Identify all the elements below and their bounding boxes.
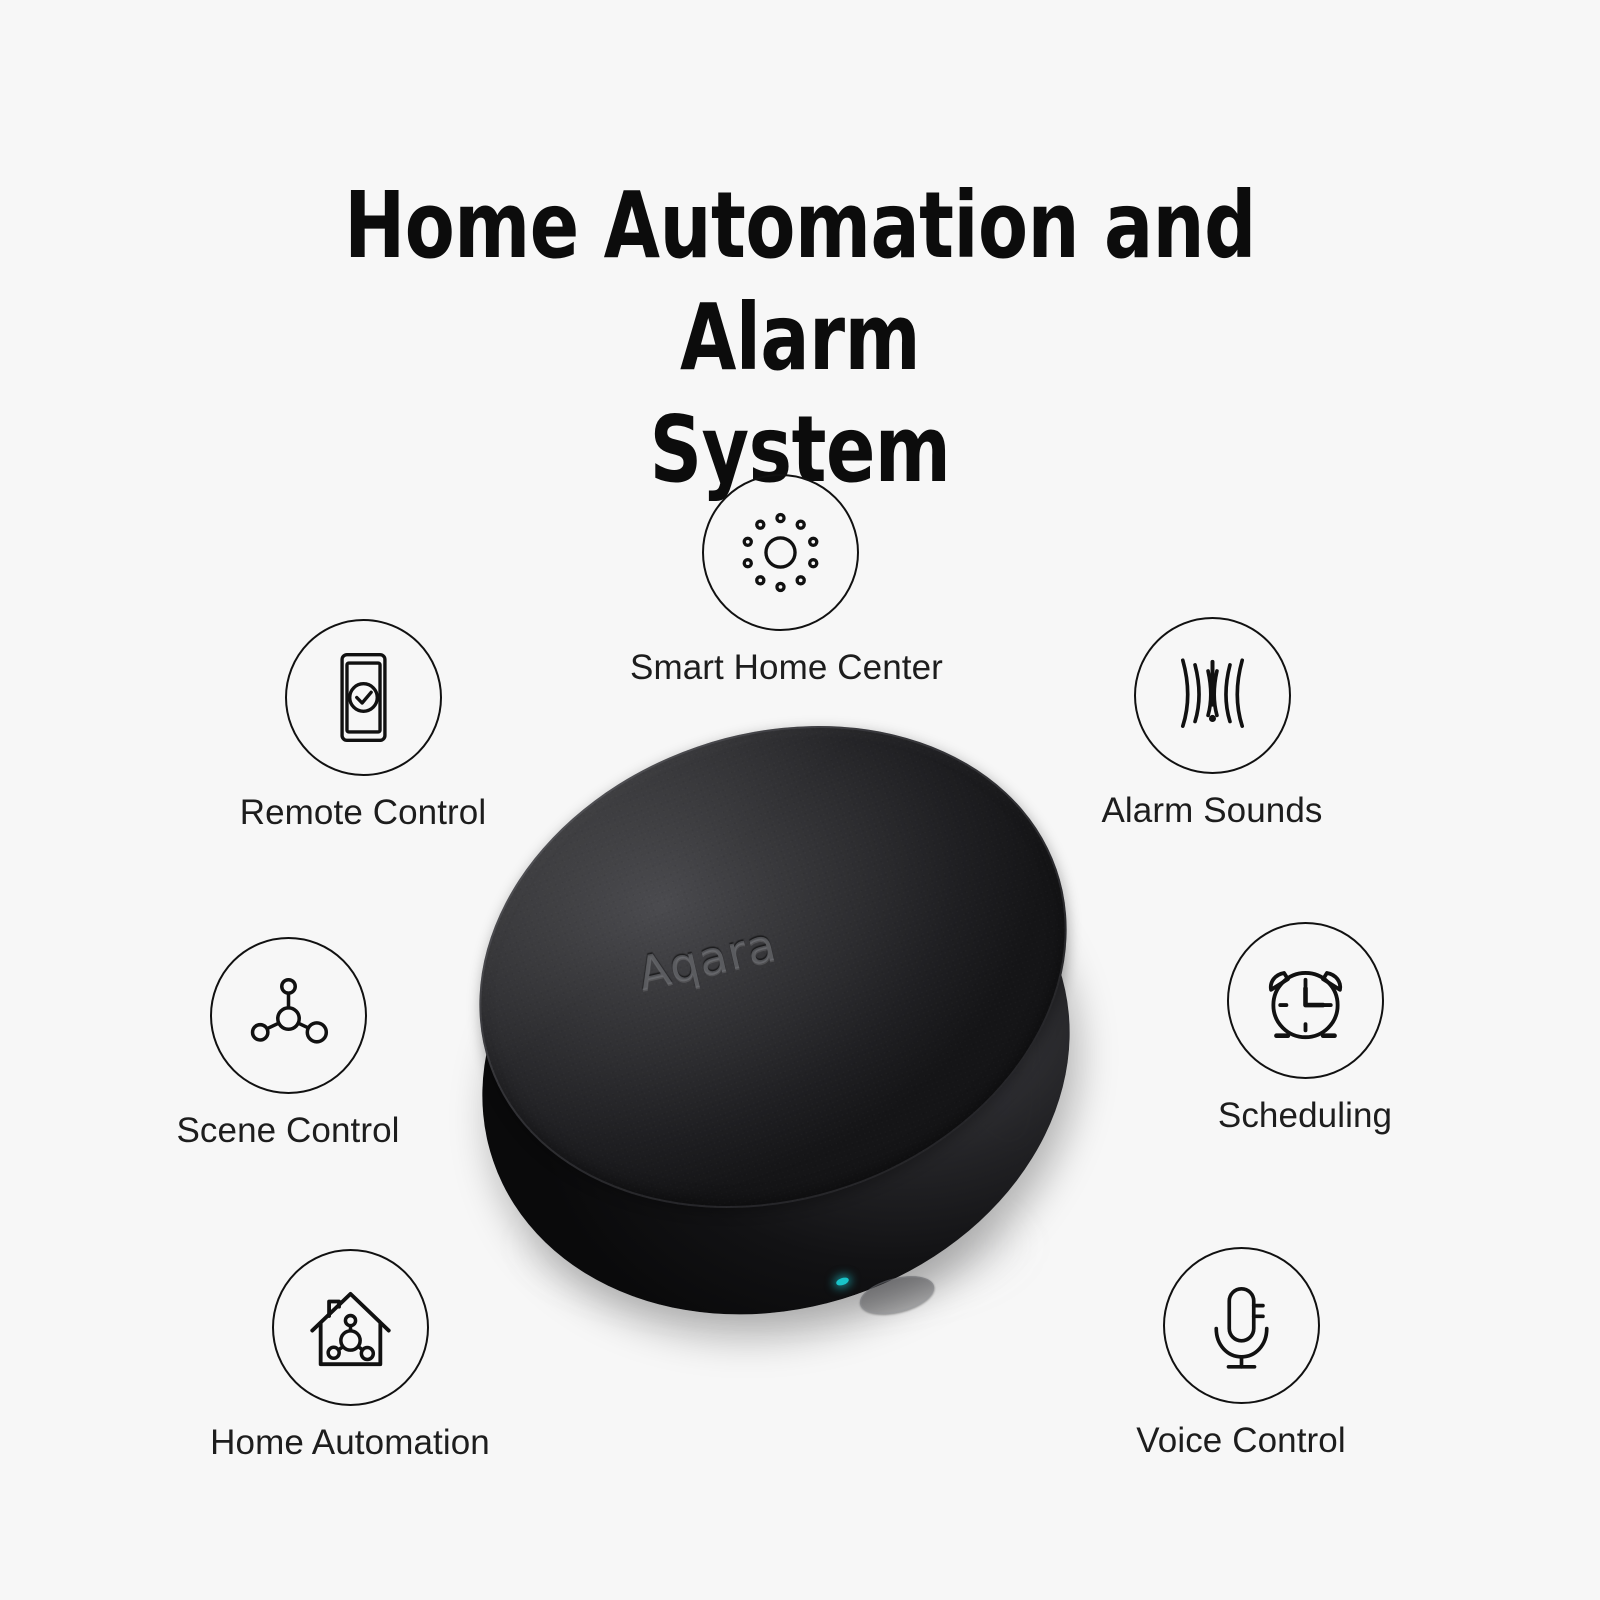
feature-alarm-sounds[interactable]: Alarm Sounds xyxy=(1062,617,1362,831)
feature-remote-control[interactable]: Remote Control xyxy=(213,619,513,833)
node-network-icon xyxy=(212,939,365,1092)
feature-voice-control[interactable]: Voice Control xyxy=(1091,1247,1391,1461)
infographic-canvas: Home Automation and Alarm System Aqara xyxy=(0,0,1600,1600)
product-top-face xyxy=(413,649,1132,1285)
feature-label: Voice Control xyxy=(1091,1421,1391,1461)
siren-alert-icon xyxy=(1136,619,1289,772)
hub-dots-icon xyxy=(704,476,857,629)
pairing-button[interactable] xyxy=(856,1269,938,1320)
feature-label: Scheduling xyxy=(1155,1096,1455,1136)
feature-label: Smart Home Center xyxy=(630,648,930,688)
feature-scene-control[interactable]: Scene Control xyxy=(138,937,438,1151)
product-top-highlight xyxy=(413,649,1132,1285)
product-drop-shadow xyxy=(515,1170,1035,1320)
feature-label: Home Automation xyxy=(200,1423,500,1463)
status-led xyxy=(835,1276,850,1287)
feature-icon-ring xyxy=(702,474,859,631)
feature-icon-ring xyxy=(272,1249,429,1406)
feature-icon-ring xyxy=(210,937,367,1094)
brand-logo-aqara: Aqara xyxy=(633,917,782,1001)
feature-icon-ring xyxy=(1163,1247,1320,1404)
alarm-clock-icon xyxy=(1229,924,1382,1077)
feature-icon-ring xyxy=(285,619,442,776)
microphone-icon xyxy=(1165,1249,1318,1402)
feature-icon-ring xyxy=(1227,922,1384,1079)
feature-smart-home-center[interactable]: Smart Home Center xyxy=(630,474,930,688)
feature-label: Scene Control xyxy=(138,1111,438,1151)
product-image-smart-hub: Aqara xyxy=(455,700,1095,1340)
product-side-body xyxy=(414,736,1138,1392)
page-title: Home Automation and Alarm System xyxy=(254,170,1345,507)
feature-icon-ring xyxy=(1134,617,1291,774)
feature-home-automation[interactable]: Home Automation xyxy=(200,1249,500,1463)
product-texture xyxy=(413,649,1132,1285)
house-network-icon xyxy=(274,1251,427,1404)
product-top-edge xyxy=(413,649,1132,1285)
feature-label: Alarm Sounds xyxy=(1062,791,1362,831)
feature-scheduling[interactable]: Scheduling xyxy=(1155,922,1455,1136)
phone-check-icon xyxy=(287,621,440,774)
feature-label: Remote Control xyxy=(213,793,513,833)
